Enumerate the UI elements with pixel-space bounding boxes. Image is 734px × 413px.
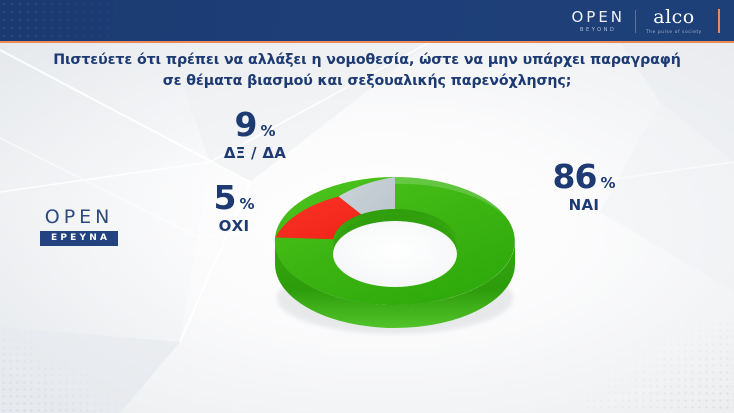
label-oxi-value: 5 [214, 181, 236, 214]
alco-logo: alco The pulse of society [646, 8, 702, 34]
alco-wordmark: alco [653, 8, 694, 27]
donut-hole [333, 221, 457, 287]
label-oxi-symbol: % [239, 197, 254, 212]
label-nai-value: 86 [553, 160, 597, 193]
open-erevna-logo: OPEN ΕΡΕΥΝΑ [40, 208, 118, 246]
page-title: Πιστεύετε ότι πρέπει να αλλάξει η νομοθε… [0, 50, 734, 91]
title-line-2: σε θέματα βιασμού και σεξουαλικής παρενό… [30, 71, 704, 92]
label-oxi: 5 % ΟΧΙ [186, 181, 282, 234]
header-bar: OPEN BEYOND alco The pulse of society [0, 0, 734, 41]
open-erevna-wordmark: OPEN [45, 208, 114, 227]
open-beyond-logo: OPEN BEYOND [571, 10, 625, 33]
header-dot-pattern [0, 0, 170, 41]
label-nai-symbol: % [600, 176, 615, 191]
title-line-1: Πιστεύετε ότι πρέπει να αλλάξει η νομοθε… [53, 52, 681, 68]
slide-root: OPEN BEYOND alco The pulse of society Πι… [0, 0, 734, 413]
label-nai: 86 % ΝΑΙ [529, 160, 639, 213]
label-dk-symbol: % [260, 124, 275, 139]
label-dk-category: ΔΞ / ΔΑ [196, 146, 314, 161]
header-logo-group: OPEN BEYOND alco The pulse of society [571, 8, 720, 34]
open-beyond-wordmark: OPEN [571, 10, 625, 25]
label-dk-value: 9 [235, 108, 257, 141]
label-nai-category: ΝΑΙ [529, 198, 639, 213]
open-erevna-badge: ΕΡΕΥΝΑ [40, 231, 118, 246]
logo-divider [635, 10, 636, 33]
label-dk: 9 % ΔΞ / ΔΑ [196, 108, 314, 161]
alco-tagline: The pulse of society [646, 30, 702, 34]
open-beyond-tagline: BEYOND [580, 28, 617, 33]
label-oxi-category: ΟΧΙ [186, 219, 282, 234]
orange-accent-bar [718, 9, 720, 33]
header-accent-rule [0, 41, 734, 43]
